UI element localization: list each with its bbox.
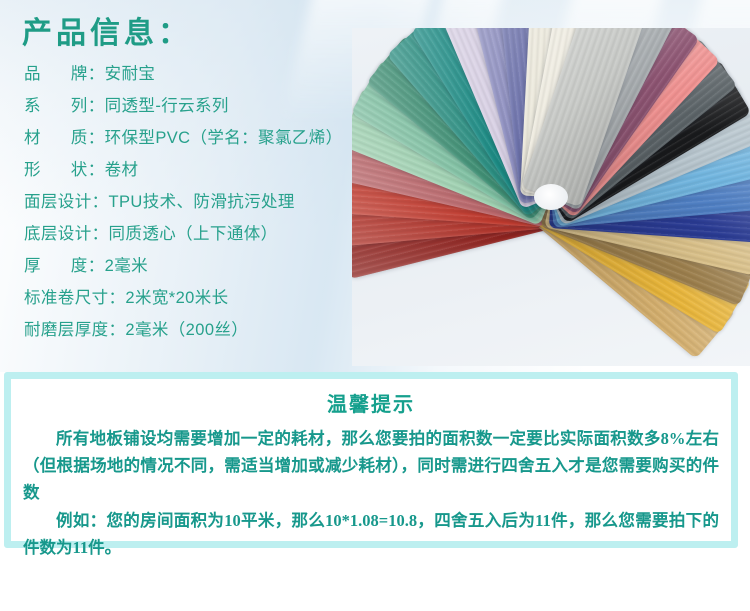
page-title: 产品信息： bbox=[22, 8, 192, 52]
spec-label: 形 状 bbox=[24, 156, 88, 180]
spec-label: 面层设计 bbox=[24, 188, 92, 212]
spec-row: 底层设计：同质透心（上下通体） bbox=[24, 220, 364, 252]
spec-separator: ： bbox=[92, 188, 109, 212]
spec-separator: ： bbox=[88, 252, 105, 276]
spec-value: 环保型PVC（学名：聚氯乙烯） bbox=[105, 124, 343, 148]
spec-separator: ： bbox=[88, 92, 105, 116]
product-info-page: 产品信息： 品 牌：安耐宝系 列：同透型-行云系列材 质：环保型PVC（学名：聚… bbox=[0, 0, 750, 611]
spec-row: 材 质：环保型PVC（学名：聚氯乙烯） bbox=[24, 124, 364, 156]
spec-label: 标准卷尺寸 bbox=[24, 284, 109, 308]
spec-row: 标准卷尺寸：2米宽*20米长 bbox=[24, 284, 364, 316]
tips-paragraph-1: 所有地板铺设均需要增加一定的耗材，那么您要拍的面积数一定要比实际面积数多8%左右… bbox=[23, 425, 719, 506]
spec-row: 厚 度：2毫米 bbox=[24, 252, 364, 284]
spec-label: 品 牌 bbox=[24, 60, 88, 84]
spec-row: 面层设计：TPU技术、防滑抗污处理 bbox=[24, 188, 364, 220]
spec-label: 系 列 bbox=[24, 92, 88, 116]
spec-separator: ： bbox=[88, 124, 105, 148]
tips-heading: 温馨提示 bbox=[11, 388, 731, 417]
tips-body: 所有地板铺设均需要增加一定的耗材，那么您要拍的面积数一定要比实际面积数多8%左右… bbox=[23, 425, 719, 561]
color-sample-fan-image bbox=[352, 28, 750, 366]
spec-value: 2毫米 bbox=[105, 252, 148, 276]
spec-label: 材 质 bbox=[24, 124, 88, 148]
tips-paragraph-2: 例如：您的房间面积为10平米，那么10*1.08=10.8，四舍五入后为11件，… bbox=[23, 507, 719, 561]
spec-row: 形 状：卷材 bbox=[24, 156, 364, 188]
spec-value: 安耐宝 bbox=[105, 60, 156, 84]
spec-value: 2毫米（200丝） bbox=[125, 316, 248, 340]
tips-box: 温馨提示 所有地板铺设均需要增加一定的耗材，那么您要拍的面积数一定要比实际面积数… bbox=[4, 372, 738, 548]
spec-label: 耐磨层厚度 bbox=[24, 316, 109, 340]
spec-value: 2米宽*20米长 bbox=[125, 284, 228, 308]
spec-separator: ： bbox=[88, 60, 105, 84]
fan-hub bbox=[534, 184, 568, 210]
spec-label: 厚 度 bbox=[24, 252, 88, 276]
spec-separator: ： bbox=[109, 284, 126, 308]
spec-row: 耐磨层厚度：2毫米（200丝） bbox=[24, 316, 364, 348]
spec-value: TPU技术、防滑抗污处理 bbox=[109, 188, 295, 212]
spec-separator: ： bbox=[92, 220, 109, 244]
spec-value: 卷材 bbox=[105, 156, 139, 180]
spec-separator: ： bbox=[109, 316, 126, 340]
spec-row: 品 牌：安耐宝 bbox=[24, 60, 364, 92]
spec-row: 系 列：同透型-行云系列 bbox=[24, 92, 364, 124]
spec-separator: ： bbox=[88, 156, 105, 180]
spec-label: 底层设计 bbox=[24, 220, 92, 244]
spec-value: 同透型-行云系列 bbox=[105, 92, 229, 116]
spec-value: 同质透心（上下通体） bbox=[109, 220, 278, 244]
spec-list: 品 牌：安耐宝系 列：同透型-行云系列材 质：环保型PVC（学名：聚氯乙烯）形 … bbox=[24, 60, 364, 348]
